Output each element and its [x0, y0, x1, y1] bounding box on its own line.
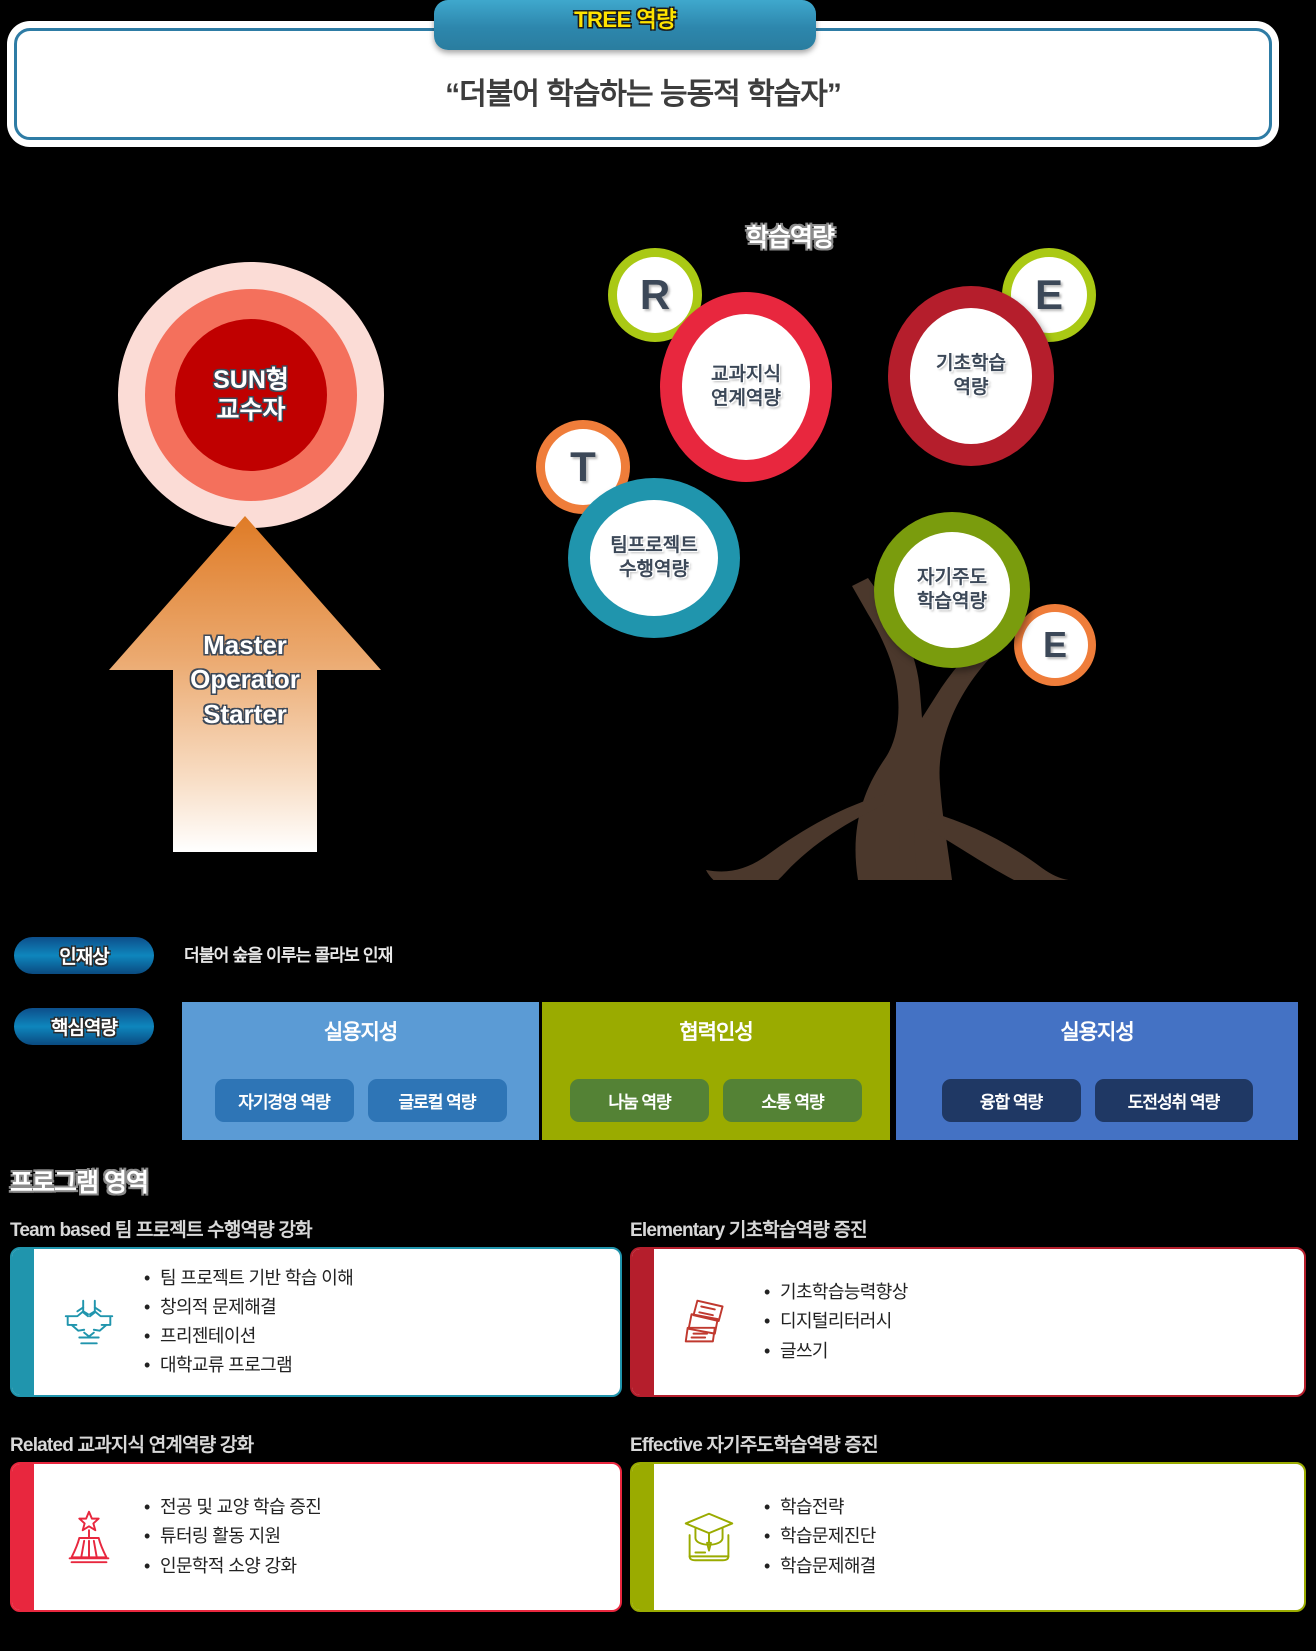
core-sub-communication: 소통 역량: [723, 1079, 862, 1122]
tree-title: 학습역량: [680, 218, 900, 254]
sun-circle-outer-ring: SUN형 교수자: [118, 262, 384, 528]
core-badge-label: 핵심역량: [51, 1013, 117, 1040]
bubble-team-project: 팀프로젝트 수행역량: [568, 478, 740, 638]
program-card-related-accent: [12, 1464, 34, 1610]
bubble-basic-learning: 기초학습 역량: [888, 286, 1054, 466]
core-column-2-title: 협력인성: [542, 1016, 890, 1046]
core-badge: 핵심역량: [14, 1008, 154, 1045]
sun-circle-core: SUN형 교수자: [175, 319, 327, 471]
list-item: 전공 및 교양 학습 증진: [144, 1493, 321, 1522]
upward-arrow: Master Operator Starter: [105, 512, 385, 852]
infographic-root: “더불어 학습하는 능동적 학습자” TREE 역량 SUN형 교수자: [0, 0, 1316, 1651]
program-card-team-based-accent: [12, 1249, 34, 1395]
bubble-self-directed: 자기주도 학습역량: [874, 512, 1030, 668]
list-item: 튜터링 활동 지원: [144, 1522, 321, 1551]
bubble-team-project-line2: 수행역량: [610, 558, 697, 582]
list-item: 기초학습능력향상: [764, 1278, 908, 1307]
bubble-basic-learning-line1: 기초학습: [936, 352, 1006, 376]
program-card-related[interactable]: 전공 및 교양 학습 증진 튜터링 활동 지원 인문학적 소양 강화: [10, 1462, 622, 1612]
header-tab: TREE 역량: [434, 0, 816, 50]
header-quote: “더불어 학습하는 능동적 학습자”: [17, 69, 1269, 113]
list-item: 디지털리터러시: [764, 1307, 908, 1336]
program-card-elementary[interactable]: 기초학습능력향상 디지털리터러시 글쓰기: [630, 1247, 1306, 1397]
bubble-self-directed-line1: 자기주도: [917, 566, 987, 590]
core-sub-convergence: 융합 역량: [942, 1079, 1081, 1122]
program-card-effective-list: 학습전략 학습문제진단 학습문제해결: [632, 1493, 876, 1580]
program-card-elementary-accent: [632, 1249, 654, 1395]
core-column-3-title: 실용지성: [896, 1016, 1298, 1046]
bubble-self-directed-line2: 학습역량: [917, 590, 987, 614]
program-card-team-based[interactable]: 팀 프로젝트 기반 학습 이해 창의적 문제해결 프리젠테이션 대학교류 프로그…: [10, 1247, 622, 1397]
list-item: 학습전략: [764, 1493, 876, 1522]
list-item: 프리젠테이션: [144, 1322, 353, 1351]
program-card-effective[interactable]: 학습전략 학습문제진단 학습문제해결: [630, 1462, 1306, 1612]
list-item: 대학교류 프로그램: [144, 1351, 353, 1380]
program-card-elementary-list: 기초학습능력향상 디지털리터러시 글쓰기: [632, 1278, 908, 1365]
talent-badge-label: 인재상: [59, 942, 108, 969]
list-item: 글쓰기: [764, 1337, 908, 1366]
program-card-effective-accent: [632, 1464, 654, 1610]
core-column-1-title: 실용지성: [182, 1016, 539, 1046]
teamwork-hands-icon: [58, 1291, 120, 1353]
stacked-books-icon: [678, 1291, 740, 1353]
bubble-subject-knowledge: 교과지식 연계역량: [660, 292, 832, 482]
bubble-basic-learning-line2: 역량: [936, 376, 1006, 400]
bubble-subject-knowledge-line2: 연계역량: [711, 387, 781, 411]
program-label-elementary: Elementary 기초학습역량 증진: [630, 1215, 867, 1242]
letter-badge-E-bottom-text: E: [1043, 624, 1067, 666]
core-sub-self-management: 자기경영 역량: [215, 1079, 354, 1122]
bubble-team-project-line1: 팀프로젝트: [610, 534, 697, 558]
program-label-effective: Effective 자기주도학습역량 증진: [630, 1430, 878, 1457]
talent-badge: 인재상: [14, 937, 154, 974]
arrow-line3: Starter: [105, 697, 385, 731]
letter-badge-R-text: R: [640, 271, 670, 319]
list-item: 학습문제해결: [764, 1552, 876, 1581]
core-sub-sharing: 나눔 역량: [570, 1079, 709, 1122]
core-column-3: 실용지성 융합 역량 도전성취 역량: [896, 1002, 1298, 1140]
list-item: 인문학적 소양 강화: [144, 1552, 321, 1581]
arrow-line2: Operator: [105, 662, 385, 696]
header-tab-label: TREE 역량: [434, 0, 816, 40]
trophy-star-icon: [58, 1506, 120, 1568]
sun-circle-line2: 교수자: [216, 395, 285, 426]
header-section: “더불어 학습하는 능동적 학습자” TREE 역량: [0, 0, 1316, 170]
talent-text: 더불어 숲을 이루는 콜라보 인재: [184, 941, 393, 966]
list-item: 학습문제진단: [764, 1522, 876, 1551]
letter-badge-T-text: T: [570, 443, 596, 491]
letter-badge-E-top-text: E: [1035, 271, 1063, 319]
core-sub-challenge-achievement: 도전성취 역량: [1095, 1079, 1253, 1122]
core-column-1: 실용지성 자기경영 역량 글로컬 역량: [182, 1002, 539, 1140]
sun-circle-middle-ring: SUN형 교수자: [145, 289, 357, 501]
core-sub-glocal: 글로컬 역량: [368, 1079, 507, 1122]
arrow-label: Master Operator Starter: [105, 628, 385, 731]
list-item: 팀 프로젝트 기반 학습 이해: [144, 1264, 353, 1293]
program-label-related: Related 교과지식 연계역량 강화: [10, 1430, 253, 1457]
graduation-cap-book-icon: [678, 1506, 740, 1568]
bubble-subject-knowledge-line1: 교과지식: [711, 363, 781, 387]
program-label-team-based: Team based 팀 프로젝트 수행역량 강화: [10, 1215, 312, 1242]
core-column-2: 협력인성 나눔 역량 소통 역량: [542, 1002, 890, 1140]
list-item: 창의적 문제해결: [144, 1293, 353, 1322]
arrow-line1: Master: [105, 628, 385, 662]
sun-circle-line1: SUN형: [213, 365, 289, 396]
letter-badge-E-bottom: E: [1014, 604, 1096, 686]
program-area-heading: 프로그램 영역: [10, 1163, 148, 1199]
